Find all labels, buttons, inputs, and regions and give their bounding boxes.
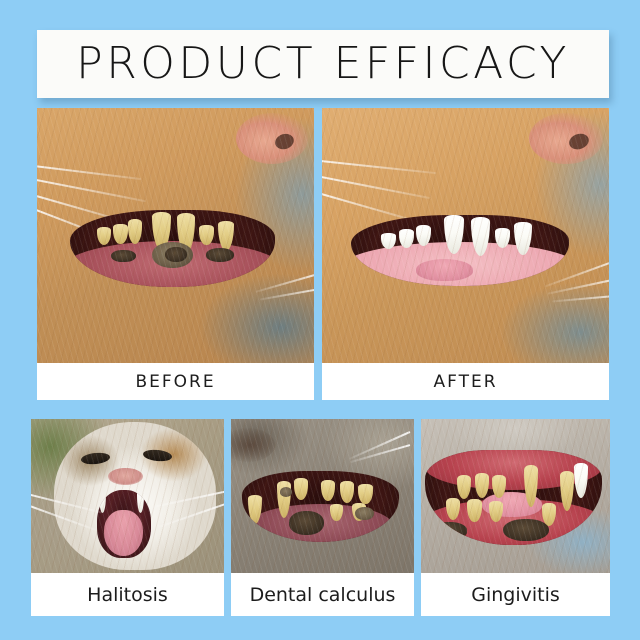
whisker — [37, 177, 146, 202]
tooth — [137, 491, 145, 513]
after-caption-strip: AFTER — [322, 363, 609, 400]
open-mouth — [97, 490, 151, 558]
comparison-panel-before: BEFORE — [37, 108, 314, 400]
tooth — [113, 224, 127, 244]
before-photo-scene — [37, 108, 314, 363]
cat-nose — [236, 113, 308, 164]
tartar-deposit — [503, 519, 549, 542]
before-caption-label: BEFORE — [135, 372, 215, 392]
tartar-deposit — [111, 250, 136, 262]
dental-calculus-caption-strip: Dental calculus — [231, 573, 414, 616]
dental-calculus-photo-scene — [231, 419, 414, 573]
condition-panel-halitosis: Halitosis — [31, 419, 224, 616]
condition-panel-gingivitis: Gingivitis — [421, 419, 610, 616]
whisker — [322, 159, 436, 174]
after-caption-label: AFTER — [433, 372, 497, 392]
tongue — [104, 510, 143, 556]
comparison-panel-after: AFTER — [322, 108, 609, 400]
before-mouth — [70, 210, 275, 287]
condition-panel-dental-calculus: Dental calculus — [231, 419, 414, 616]
halitosis-caption-label: Halitosis — [87, 584, 168, 606]
product-efficacy-infographic: PRODUCT EFFICACY — [0, 0, 640, 640]
page-title: PRODUCT EFFICACY — [76, 42, 570, 86]
before-caption-strip: BEFORE — [37, 363, 314, 400]
cat-nose — [231, 428, 275, 462]
tooth — [340, 481, 354, 502]
calculus-mouth — [242, 471, 399, 542]
tooth — [358, 484, 372, 504]
gingivitis-mouth — [425, 450, 603, 545]
tongue — [416, 259, 473, 280]
tartar-deposit — [289, 511, 324, 535]
dental-calculus-photo — [231, 419, 414, 573]
halitosis-caption-strip: Halitosis — [31, 573, 224, 616]
after-photo — [322, 108, 609, 363]
before-photo — [37, 108, 314, 363]
tartar-deposit — [432, 522, 468, 539]
gingivitis-caption-strip: Gingivitis — [421, 573, 610, 616]
halitosis-photo — [31, 419, 224, 573]
tartar-deposit — [206, 248, 235, 262]
tartar-deposit — [280, 487, 293, 497]
after-photo-scene — [322, 108, 609, 363]
cat-nose — [529, 113, 604, 164]
whisker — [552, 294, 609, 302]
whisker — [37, 164, 141, 180]
tartar-deposit — [355, 507, 374, 520]
gingivitis-photo — [421, 419, 610, 573]
tooth — [475, 473, 489, 498]
tartar-deposit — [165, 247, 188, 262]
dental-calculus-caption-label: Dental calculus — [250, 584, 396, 606]
gingivitis-photo-scene — [421, 419, 610, 573]
title-banner: PRODUCT EFFICACY — [37, 30, 609, 98]
after-mouth — [351, 215, 569, 286]
gingivitis-caption-label: Gingivitis — [471, 584, 560, 606]
halitosis-photo-scene — [31, 419, 224, 573]
tooth — [99, 490, 107, 513]
whisker — [322, 174, 429, 199]
